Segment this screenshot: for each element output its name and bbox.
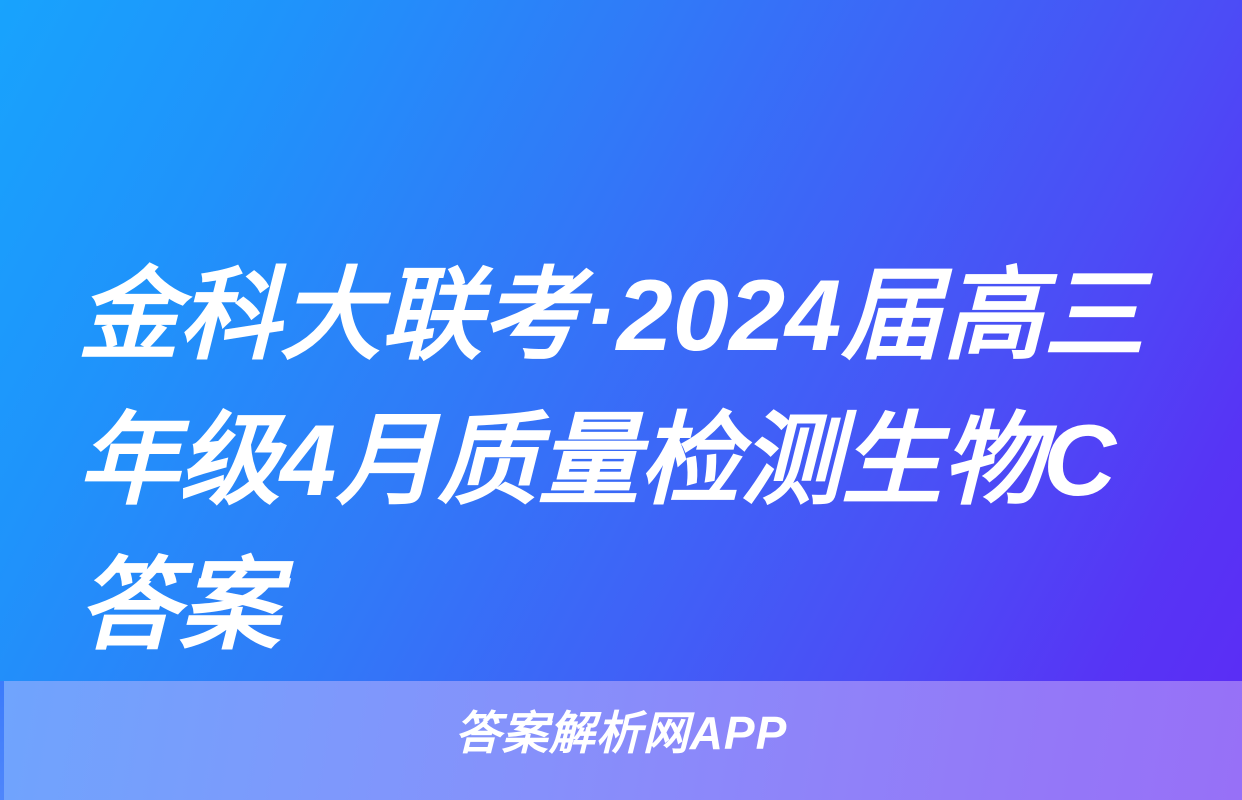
page-title: 金科大联考·2024届高三年级4月质量检测生物C答案: [78, 244, 1164, 679]
watermark-label: 答案解析网APP: [455, 710, 788, 756]
answer-cover-screen: 金科大联考·2024届高三年级4月质量检测生物C答案 答案解析网APP: [0, 0, 1242, 800]
watermark: 答案解析网APP: [0, 698, 1242, 768]
